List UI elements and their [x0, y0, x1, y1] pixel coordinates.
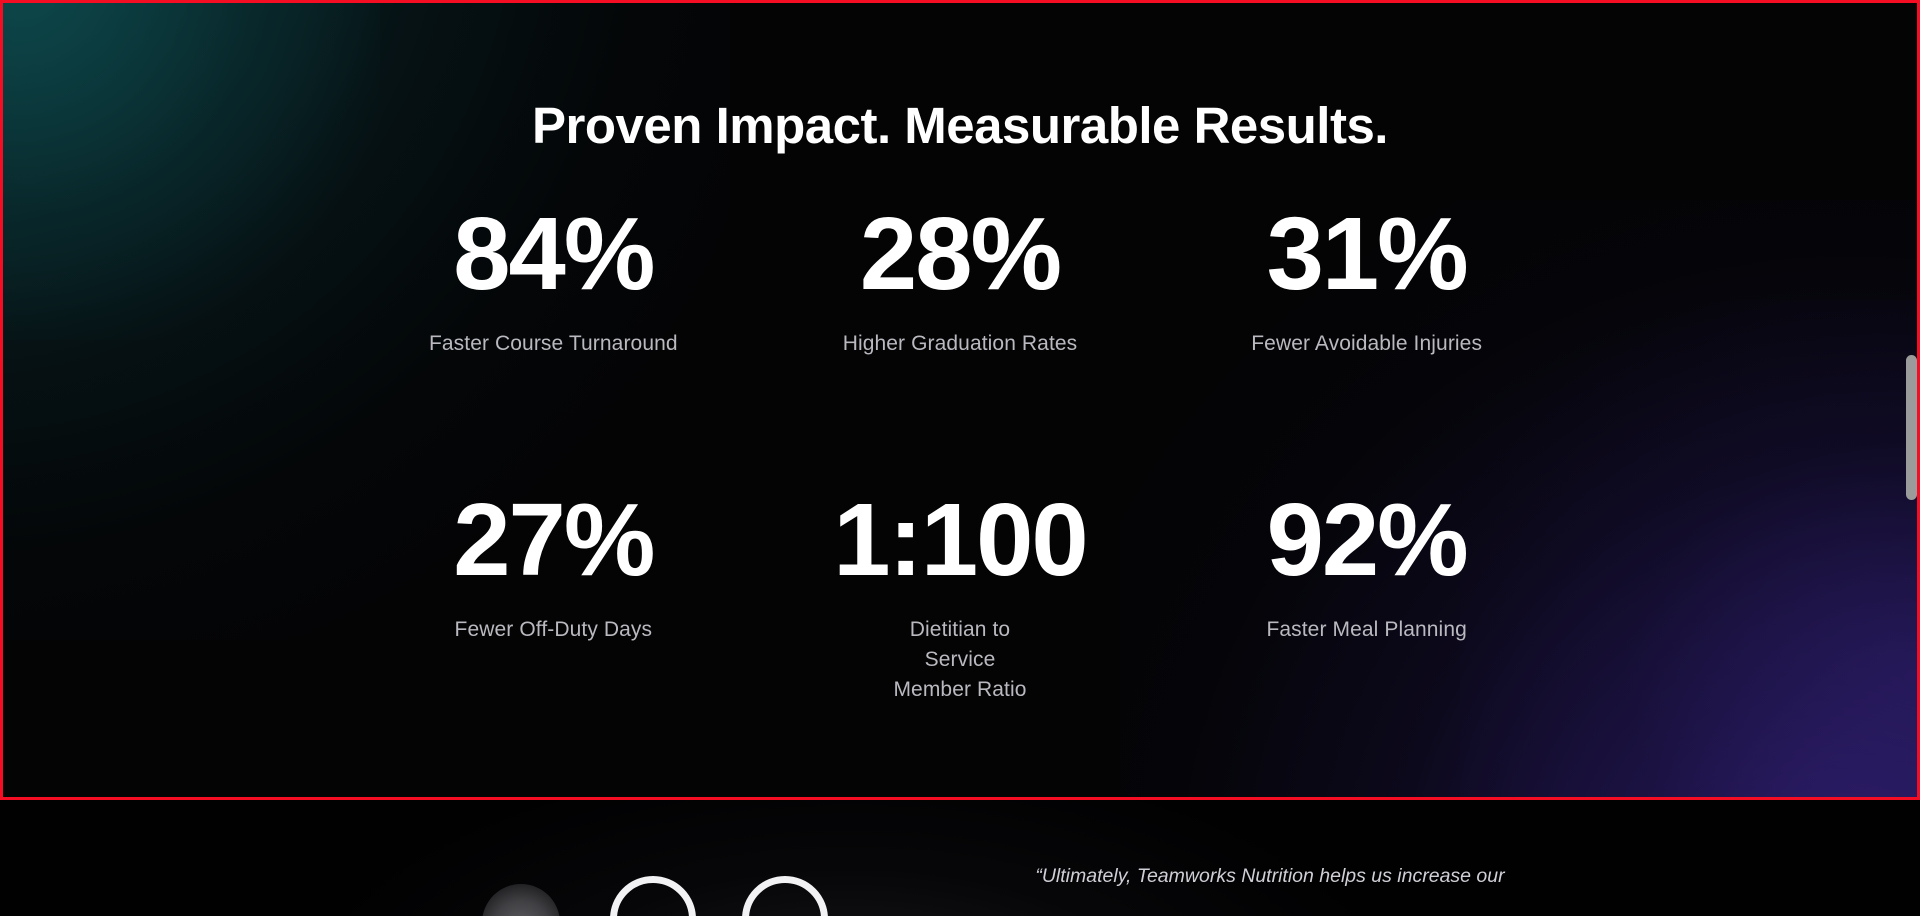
stat-value: 92% [1177, 488, 1556, 591]
partner-logo-2-icon [610, 876, 696, 916]
page-scrollbar-thumb[interactable] [1906, 355, 1917, 500]
stat-item-fewer-off-duty-days: 27% Fewer Off-Duty Days [350, 488, 757, 706]
testimonial-section [0, 800, 1920, 916]
stat-label: Dietitian to Service Member Ratio [771, 615, 1150, 706]
stat-value: 28% [771, 202, 1150, 305]
stats-grid: 84% Faster Course Turnaround 28% Higher … [350, 202, 1570, 706]
stat-label: Fewer Avoidable Injuries [1177, 329, 1556, 359]
stat-label: Fewer Off-Duty Days [364, 615, 743, 645]
stat-item-faster-course-turnaround: 84% Faster Course Turnaround [350, 202, 757, 359]
stat-value: 27% [364, 488, 743, 591]
stat-item-faster-meal-planning: 92% Faster Meal Planning [1163, 488, 1570, 706]
stat-label: Faster Course Turnaround [364, 329, 743, 359]
stat-value: 1:100 [771, 488, 1150, 591]
proven-impact-section: Proven Impact. Measurable Results. 84% F… [0, 0, 1920, 800]
stat-value: 84% [364, 202, 743, 305]
stat-item-fewer-avoidable-injuries: 31% Fewer Avoidable Injuries [1163, 202, 1570, 359]
page-screen: Proven Impact. Measurable Results. 84% F… [0, 0, 1920, 916]
stat-value: 31% [1177, 202, 1556, 305]
impact-content: Proven Impact. Measurable Results. 84% F… [0, 0, 1920, 706]
partner-logo-strip [470, 866, 890, 916]
stat-label: Higher Graduation Rates [771, 329, 1150, 359]
stat-item-dietitian-to-service-member-ratio: 1:100 Dietitian to Service Member Ratio [757, 488, 1164, 706]
page-title: Proven Impact. Measurable Results. [0, 96, 1920, 156]
partner-logo-3-icon [742, 876, 828, 916]
stat-label: Faster Meal Planning [1177, 615, 1556, 645]
testimonial-quote-text: “Ultimately, Teamworks Nutrition helps u… [980, 862, 1560, 892]
stat-item-higher-graduation-rates: 28% Higher Graduation Rates [757, 202, 1164, 359]
partner-logo-1-icon [482, 884, 560, 916]
